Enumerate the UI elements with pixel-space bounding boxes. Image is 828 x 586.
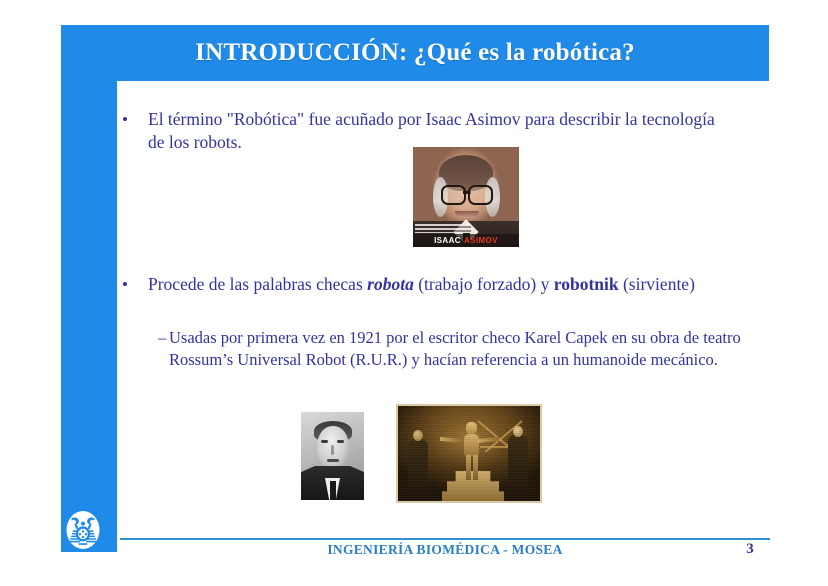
slide-left-accent-strip — [61, 25, 117, 552]
asimov-caption-first: ISAAC — [434, 236, 461, 245]
footer-text: INGENIERÍA BIOMÉDICA - MOSEA — [120, 542, 770, 558]
asimov-caption-stripes — [415, 224, 471, 233]
rur-photo-grain — [398, 406, 540, 501]
capek-tie — [330, 481, 336, 500]
capek-mouth — [327, 459, 339, 462]
bullet-2-word-robota: robota — [367, 274, 414, 294]
karel-capek-photo — [301, 412, 364, 500]
slide-canvas: INTRODUCCIÓN: ¿Qué es la robótica? • El … — [0, 0, 828, 586]
asimov-lens-right — [468, 185, 493, 205]
sub-bullet-marker: – — [158, 327, 169, 349]
rur-theatre-photo — [396, 404, 542, 503]
asimov-caption: ISAAC ASIMOV — [413, 234, 519, 247]
page-title: INTRODUCCIÓN: ¿Qué es la robótica? — [61, 25, 769, 81]
capek-eye-right — [337, 440, 344, 443]
sub-bullet-item-1-text: Usadas por primera vez en 1921 por el es… — [169, 327, 768, 371]
universidad-de-granada-logo — [61, 508, 105, 552]
bullet-2-word-robotnik: robotnik — [554, 274, 619, 294]
bullet-2-part-2: (trabajo forzado) y — [414, 274, 554, 294]
capek-eye-left — [321, 440, 328, 443]
asimov-glasses — [441, 185, 493, 201]
bullet-item-2: • Procede de las palabras checas robota … — [122, 273, 722, 296]
footer-divider — [120, 538, 770, 540]
capek-nose — [331, 445, 334, 455]
asimov-mouth — [455, 211, 479, 218]
bullet-2-part-3: (sirviente) — [619, 274, 695, 294]
bullet-marker: • — [122, 108, 148, 131]
bullet-2-part-1: Procede de las palabras checas — [148, 274, 367, 294]
bullet-item-2-text: Procede de las palabras checas robota (t… — [148, 273, 722, 296]
asimov-caption-second: ASIMOV — [464, 236, 498, 245]
isaac-asimov-photo: ISAAC ASIMOV — [413, 147, 519, 247]
sub-bullet-item-1: – Usadas por primera vez en 1921 por el … — [158, 327, 768, 371]
bullet-marker: • — [122, 273, 148, 296]
page-number: 3 — [735, 541, 765, 558]
asimov-lens-left — [441, 185, 466, 205]
